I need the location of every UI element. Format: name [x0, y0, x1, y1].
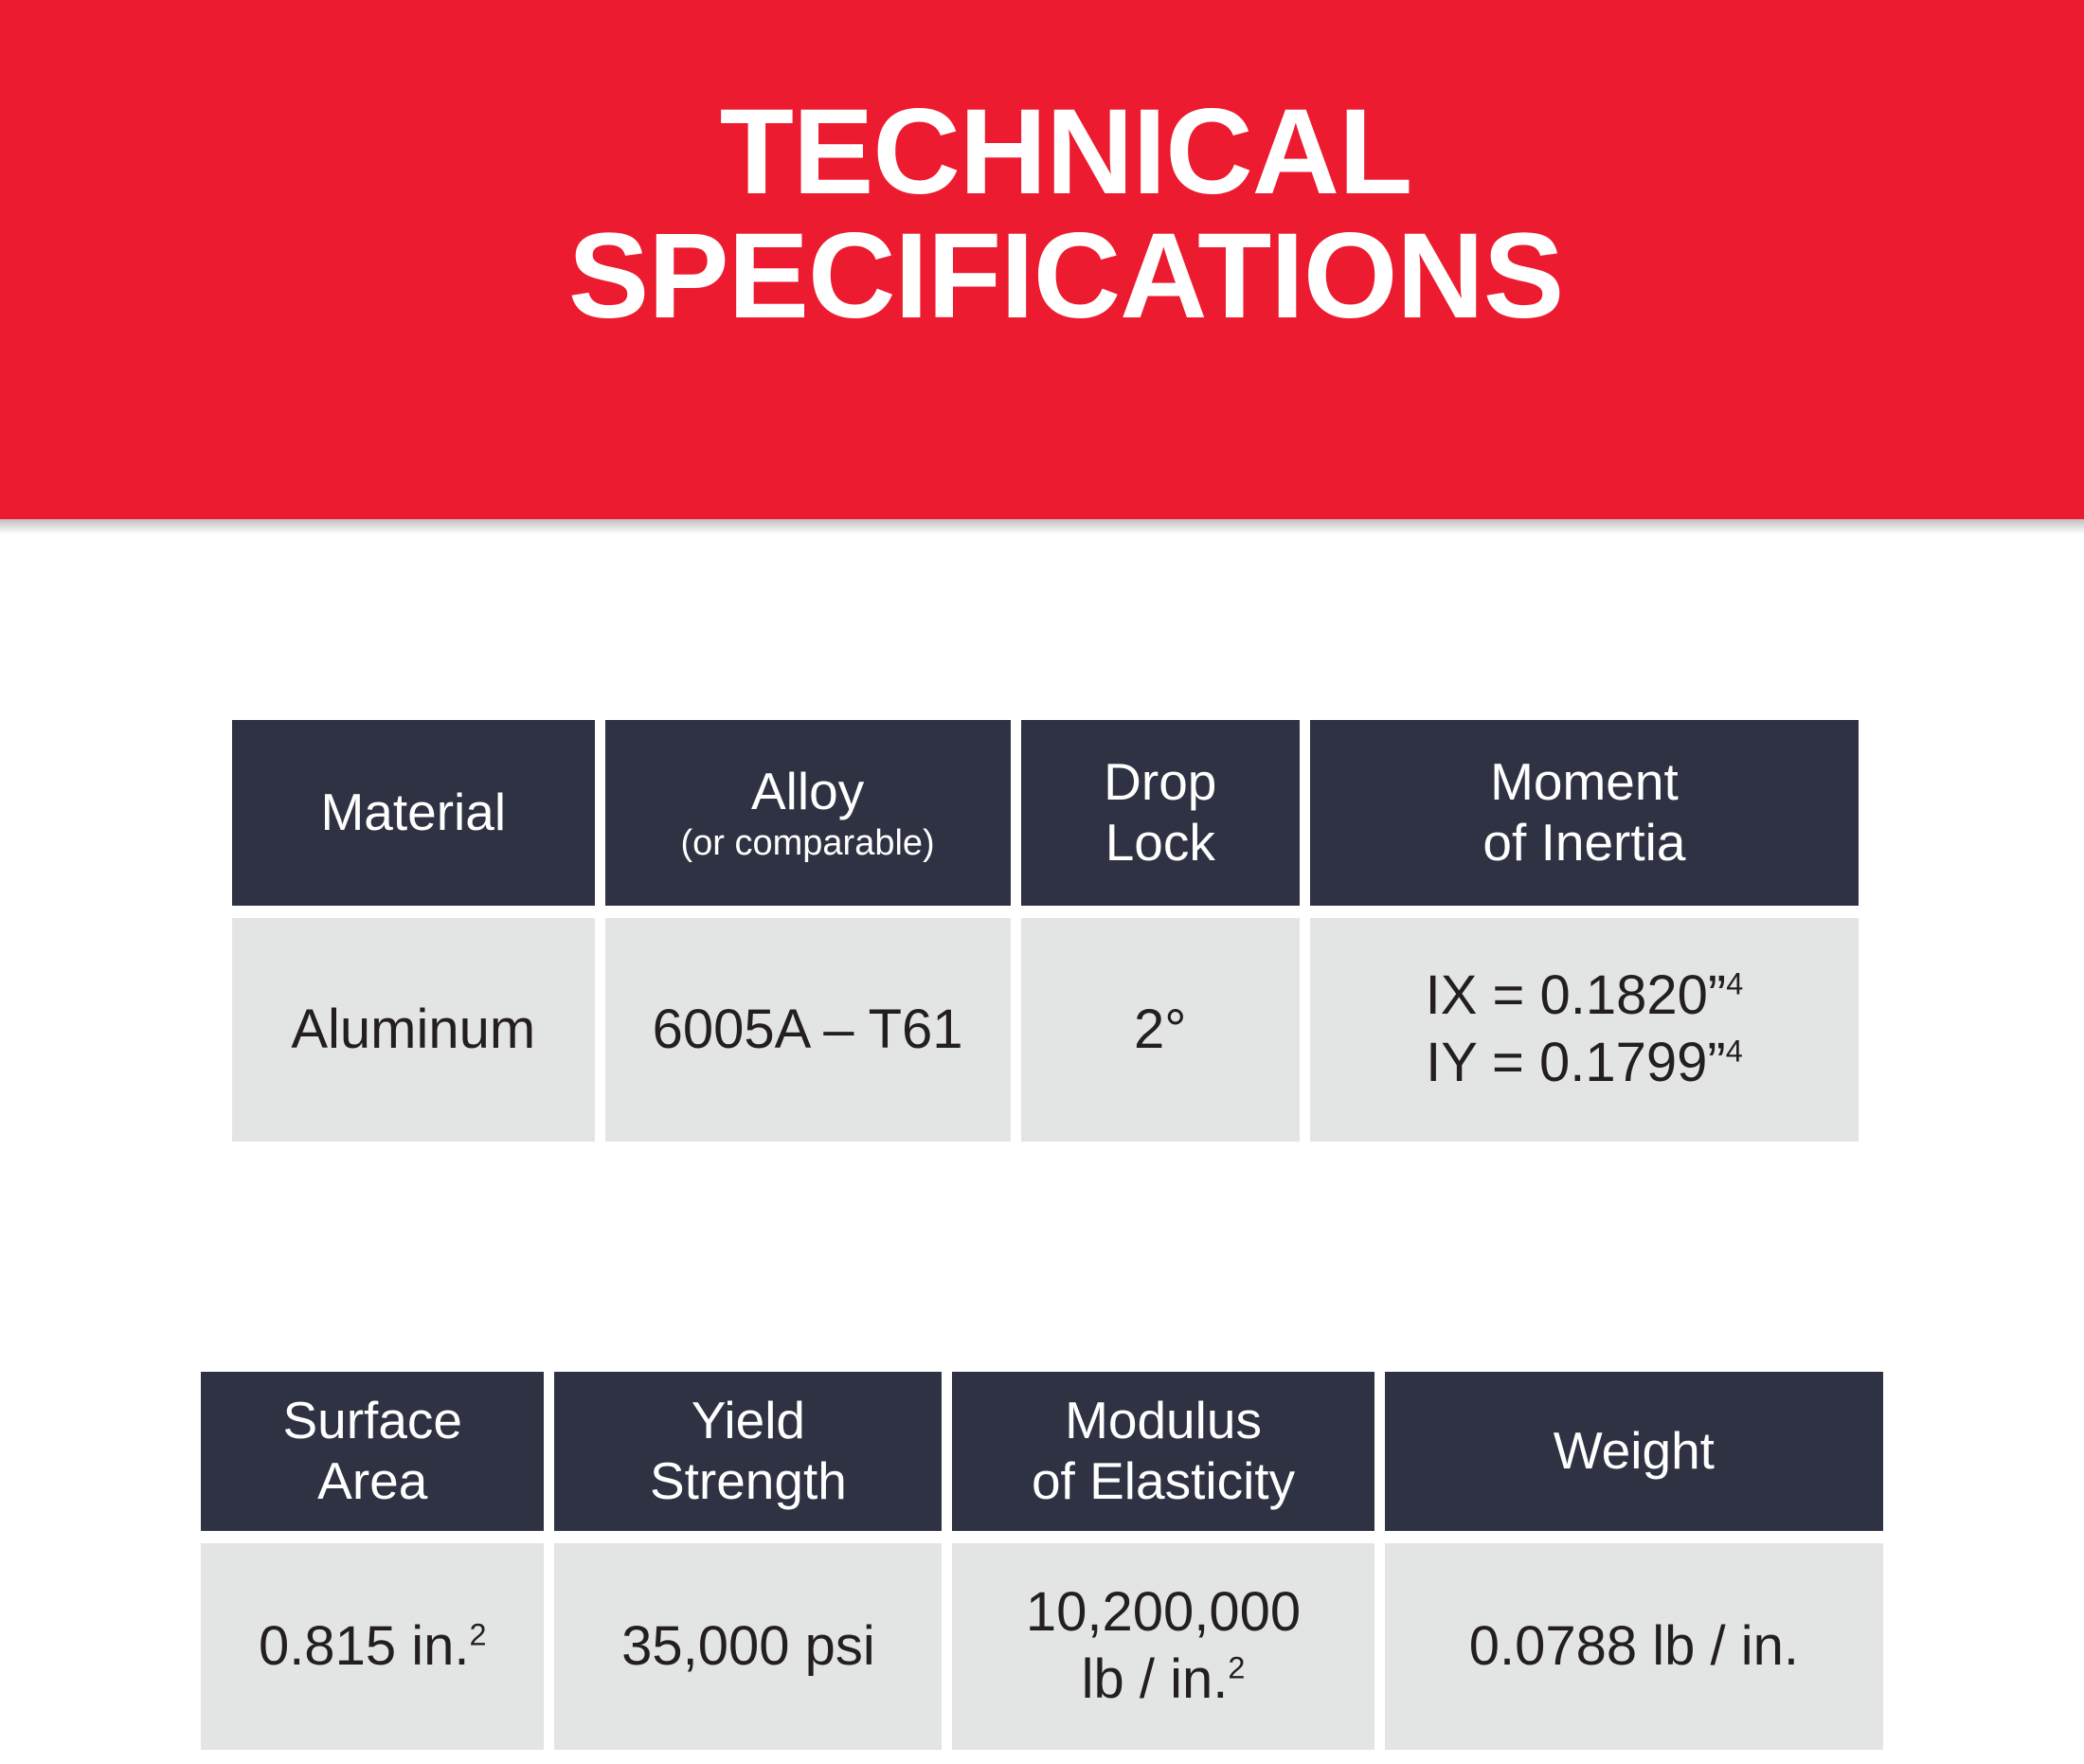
column-header-modulus-of-elasticity-line-1: Modulus — [1065, 1391, 1262, 1451]
column-header-weight: Weight — [1385, 1372, 1883, 1531]
column-header-surface-area-line-2: Area — [317, 1451, 427, 1512]
value-material-text: Aluminum — [291, 997, 535, 1064]
column-header-yield-strength-line-2: Strength — [650, 1451, 847, 1512]
column-header-alloy: Alloy (or comparable) — [605, 720, 1011, 906]
column-header-moment-of-inertia: Moment of Inertia — [1310, 720, 1859, 906]
column-header-modulus-of-elasticity: Modulus of Elasticity — [952, 1372, 1374, 1531]
value-drop-lock: 2° — [1021, 918, 1300, 1142]
value-yield-strength: 35,000 psi — [554, 1543, 942, 1750]
value-moment-of-inertia-iy: IY = 0.1799”4 — [1426, 1030, 1743, 1097]
value-modulus-of-elasticity-line-2: lb / in.2 — [1082, 1647, 1246, 1714]
value-surface-area: 0.815 in.2 — [201, 1543, 544, 1750]
value-moment-of-inertia-ix: IX = 0.1820”4 — [1426, 963, 1744, 1030]
value-iy-exponent: 4 — [1726, 1035, 1743, 1069]
column-header-weight-label: Weight — [1554, 1421, 1715, 1482]
value-modulus-unit-base: lb / in. — [1082, 1648, 1229, 1710]
value-ix-exponent: 4 — [1726, 967, 1743, 1001]
material-spec-table: Material Alloy (or comparable) Drop Lock… — [232, 720, 1859, 1142]
mechanical-property-table: Surface Area Yield Strength Modulus of E… — [201, 1372, 1883, 1750]
table-data-row: Aluminum 6005A – T61 2° IX = 0.1820”4 IY… — [232, 918, 1859, 1142]
page-title-line-2: SPECIFICATIONS — [0, 215, 2084, 339]
column-header-material: Material — [232, 720, 595, 906]
header-banner-shadow — [0, 519, 2084, 534]
value-moment-of-inertia: IX = 0.1820”4 IY = 0.1799”4 — [1310, 918, 1859, 1142]
value-ix-base: IX = 0.1820” — [1426, 964, 1727, 1026]
value-alloy-text: 6005A – T61 — [653, 997, 963, 1064]
value-modulus-of-elasticity-line-1: 10,200,000 — [1026, 1579, 1301, 1647]
value-modulus-of-elasticity: 10,200,000 lb / in.2 — [952, 1543, 1374, 1750]
table-header-row: Surface Area Yield Strength Modulus of E… — [201, 1372, 1883, 1531]
column-header-modulus-of-elasticity-line-2: of Elasticity — [1032, 1451, 1295, 1512]
value-surface-area-base: 0.815 in. — [259, 1615, 470, 1677]
table-header-row: Material Alloy (or comparable) Drop Lock… — [232, 720, 1859, 906]
value-material: Aluminum — [232, 918, 595, 1142]
value-yield-strength-text: 35,000 psi — [621, 1613, 875, 1681]
value-surface-area-exponent: 2 — [469, 1617, 486, 1651]
column-header-surface-area: Surface Area — [201, 1372, 544, 1531]
column-header-alloy-label: Alloy — [751, 762, 864, 822]
column-header-surface-area-line-1: Surface — [282, 1391, 462, 1451]
value-weight-text: 0.0788 lb / in. — [1469, 1613, 1799, 1681]
value-weight: 0.0788 lb / in. — [1385, 1543, 1883, 1750]
column-header-yield-strength: Yield Strength — [554, 1372, 942, 1531]
column-header-moment-of-inertia-line-2: of Inertia — [1482, 813, 1685, 873]
column-header-drop-lock: Drop Lock — [1021, 720, 1300, 906]
table-data-row: 0.815 in.2 35,000 psi 10,200,000 lb / in… — [201, 1543, 1883, 1750]
value-surface-area-text: 0.815 in.2 — [259, 1613, 487, 1681]
page-title-line-1: TECHNICAL — [0, 91, 2084, 215]
column-header-moment-of-inertia-line-1: Moment — [1490, 752, 1679, 813]
column-header-drop-lock-line-2: Lock — [1105, 813, 1215, 873]
value-modulus-unit-exponent: 2 — [1228, 1651, 1245, 1685]
value-drop-lock-text: 2° — [1134, 997, 1186, 1064]
column-header-alloy-sublabel: (or comparable) — [681, 824, 935, 864]
value-alloy: 6005A – T61 — [605, 918, 1011, 1142]
page-header-banner: TECHNICAL SPECIFICATIONS — [0, 0, 2084, 519]
column-header-material-label: Material — [320, 783, 506, 843]
value-iy-base: IY = 0.1799” — [1426, 1032, 1726, 1093]
column-header-yield-strength-line-1: Yield — [692, 1391, 805, 1451]
column-header-drop-lock-line-1: Drop — [1104, 752, 1216, 813]
